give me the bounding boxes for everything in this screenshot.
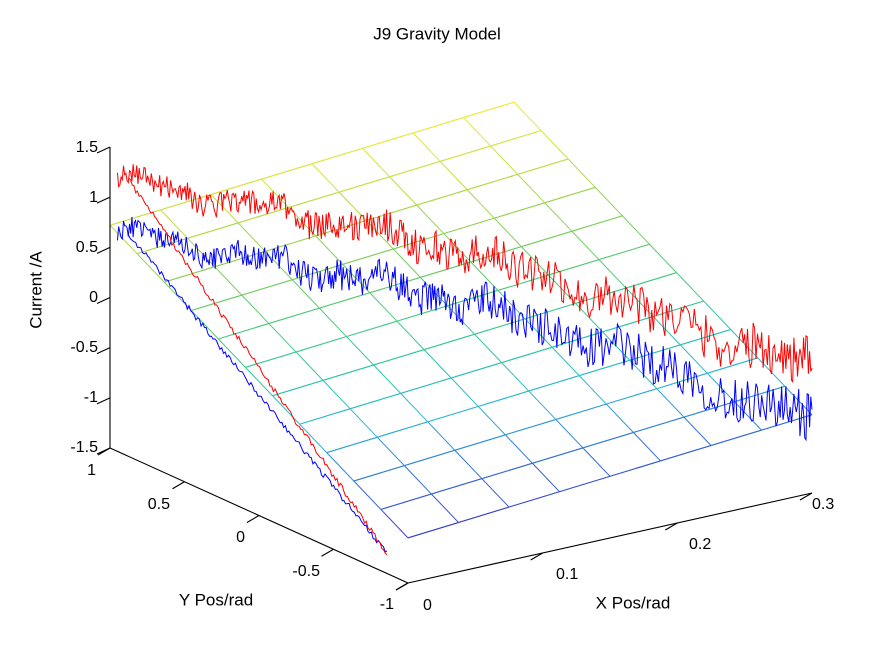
mesh-gridline-constant-y bbox=[529, 376, 580, 391]
mesh-gridline-constant-x bbox=[296, 352, 323, 380]
mesh-gridline-constant-x bbox=[191, 311, 218, 339]
mesh-gridline-constant-x bbox=[541, 131, 568, 159]
mesh-gridline-constant-x bbox=[413, 133, 440, 161]
mesh-gridline-constant-y bbox=[606, 389, 657, 404]
mesh-gridline-constant-y bbox=[525, 303, 576, 318]
mesh-gridline-constant-y bbox=[191, 295, 242, 310]
mesh-gridline-constant-y bbox=[482, 463, 532, 478]
mesh-gridline-constant-x bbox=[316, 236, 343, 264]
mesh-gridline-constant-y bbox=[603, 316, 654, 331]
mesh-gridline-constant-x bbox=[401, 393, 428, 421]
x-tick-label: 0.2 bbox=[689, 536, 711, 553]
mesh-gridline-constant-x bbox=[657, 389, 684, 417]
y-tick-label: -1 bbox=[380, 596, 394, 613]
trace-measured-current-positive-sweep bbox=[117, 164, 812, 555]
mesh-gridline-constant-y bbox=[401, 378, 452, 393]
mesh-gridline-constant-y bbox=[164, 267, 215, 282]
mesh-gridline-constant-y bbox=[509, 492, 560, 507]
mesh-gridline-constant-y bbox=[346, 321, 397, 336]
x-axis-line bbox=[408, 493, 812, 583]
mesh-gridline-constant-y bbox=[413, 118, 464, 133]
mesh-gridline-constant-x bbox=[354, 481, 381, 509]
mesh-gridline-constant-x bbox=[707, 373, 734, 401]
mesh-gridline-constant-y bbox=[319, 293, 370, 308]
mesh-gridline-constant-x bbox=[161, 210, 188, 238]
mesh-gridline-constant-y bbox=[494, 203, 545, 218]
mesh-gridline-constant-x bbox=[494, 218, 521, 246]
mesh-gridline-constant-x bbox=[374, 365, 401, 393]
mesh-gridline-constant-x bbox=[734, 402, 761, 430]
mesh-gridline-constant-y bbox=[312, 148, 363, 163]
mesh-gridline-constant-y bbox=[390, 161, 441, 176]
x-tick-label: 0.3 bbox=[812, 496, 834, 513]
mesh-gridline-constant-x bbox=[451, 378, 478, 406]
z-tick-mark bbox=[97, 247, 110, 253]
mesh-gridline-constant-y bbox=[374, 350, 425, 365]
mesh-gridline-constant-x bbox=[440, 161, 467, 189]
mesh-gridline-constant-x bbox=[164, 282, 191, 310]
x-tick-label: 0.1 bbox=[556, 566, 578, 583]
mesh-gridline-constant-y bbox=[420, 262, 471, 277]
z-tick-mark bbox=[97, 147, 110, 153]
y-tick-mark bbox=[98, 448, 110, 455]
mesh-gridline-constant-y bbox=[464, 102, 515, 117]
mesh-gridline-constant-x bbox=[464, 118, 491, 146]
mesh-gridline-constant-x bbox=[649, 244, 676, 272]
mesh-gridline-constant-y bbox=[408, 522, 459, 537]
mesh-gridline-constant-x bbox=[568, 159, 595, 187]
mesh-gridline-constant-y bbox=[545, 187, 596, 202]
mesh-gridline-constant-y bbox=[599, 244, 650, 259]
mesh-gridline-constant-x bbox=[137, 254, 164, 282]
mesh-gridline-constant-x bbox=[532, 463, 559, 491]
mesh-gridline-constant-y bbox=[265, 236, 316, 251]
z-tick-label: -1 bbox=[84, 389, 98, 406]
mesh-gridline-constant-y bbox=[431, 479, 482, 494]
mesh-gridline-constant-x bbox=[502, 363, 529, 391]
mesh-gridline-constant-x bbox=[319, 308, 346, 336]
mesh-gridline-constant-x bbox=[677, 273, 704, 301]
z-tick-mark bbox=[97, 398, 110, 404]
z-axis-label: Current /A bbox=[26, 251, 45, 329]
mesh-gridline-constant-x bbox=[404, 466, 431, 494]
matlab-figure-window: J9 Gravity Model 1.5 1 0.5 0 -0.5 -1 -1.… bbox=[0, 0, 875, 656]
mesh-gridline-constant-y bbox=[350, 393, 401, 408]
mesh-gridline-constant-y bbox=[478, 391, 528, 406]
z-tick-label: -0.5 bbox=[70, 339, 98, 356]
mesh-gridline-constant-y bbox=[491, 131, 542, 146]
mesh-gridline-constant-x bbox=[242, 295, 269, 323]
mesh-gridline-constant-y bbox=[363, 133, 414, 148]
mesh-gridline-constant-y bbox=[218, 324, 268, 339]
mesh-gridline-constant-y bbox=[262, 164, 313, 179]
mesh-gridline-constant-y bbox=[459, 507, 510, 522]
y-tick-label: 0 bbox=[236, 529, 245, 546]
mesh-gridline-constant-y bbox=[327, 437, 378, 452]
mesh-gridline-constant-x bbox=[455, 450, 482, 478]
y-tick-label: 1 bbox=[87, 462, 96, 479]
mesh-gridline-constant-x bbox=[514, 102, 541, 130]
mesh-gridline-constant-x bbox=[269, 324, 296, 352]
mesh-gridline-constant-y bbox=[404, 450, 455, 465]
mesh-gridline-constant-y bbox=[583, 432, 634, 447]
mesh-gridline-constant-x bbox=[572, 231, 599, 259]
mesh-gridline-constant-y bbox=[417, 190, 468, 205]
mesh-gridline-constant-y bbox=[242, 280, 292, 295]
mesh-gridline-constant-x bbox=[300, 424, 327, 452]
mesh-gridline-constant-y bbox=[711, 430, 762, 445]
y-tick-mark bbox=[247, 516, 259, 523]
mesh-gridline-constant-y bbox=[661, 446, 712, 461]
mesh-gridline-constant-y bbox=[444, 218, 495, 233]
mesh-gridline-constant-x bbox=[505, 435, 532, 463]
mesh-gridline-constant-x bbox=[312, 164, 339, 192]
z-tick-label: 1.5 bbox=[76, 139, 98, 156]
mesh-gridline-constant-y bbox=[532, 448, 583, 463]
mesh-gridline-constant-y bbox=[451, 363, 502, 378]
mesh-gridline-constant-x bbox=[431, 494, 458, 522]
mesh-gridline-constant-x bbox=[273, 396, 300, 424]
plot-canvas: J9 Gravity Model 1.5 1 0.5 0 -0.5 -1 -1.… bbox=[0, 0, 875, 656]
mesh-gridline-constant-x bbox=[583, 448, 610, 476]
z-tick-labels: 1.5 1 0.5 0 -0.5 -1 -1.5 bbox=[70, 139, 98, 456]
y-tick-label: -0.5 bbox=[292, 563, 320, 580]
mesh-gridline-constant-x bbox=[377, 437, 404, 465]
mesh-gridline-constant-y bbox=[245, 352, 296, 367]
mesh-gridline-constant-y bbox=[521, 231, 572, 246]
mesh-gridline-constant-x bbox=[292, 280, 319, 308]
y-tick-label: 0.5 bbox=[148, 496, 170, 513]
mesh-gridline-constant-y bbox=[556, 404, 607, 419]
mesh-gridline-constant-x bbox=[545, 203, 572, 231]
mesh-gridline-constant-y bbox=[502, 347, 553, 362]
mesh-gridline-constant-x bbox=[428, 422, 455, 450]
mesh-gridline-constant-x bbox=[482, 479, 509, 507]
z-tick-mark bbox=[97, 197, 110, 203]
mesh-gridline-constant-y bbox=[296, 337, 347, 352]
mesh-gridline-constant-y bbox=[467, 174, 518, 189]
mesh-gridline-constant-x bbox=[370, 293, 397, 321]
mesh-gridline-constant-y bbox=[455, 435, 506, 450]
mesh-gridline-constant-y bbox=[560, 476, 611, 491]
mesh-gridline-constant-x bbox=[424, 350, 451, 378]
mesh-gridline-constant-x bbox=[552, 347, 579, 375]
mesh-gridline-constant-y bbox=[518, 159, 569, 174]
z-tick-label: 1 bbox=[89, 189, 98, 206]
page-title: J9 Gravity Model bbox=[373, 24, 501, 43]
mesh-gridline-constant-x bbox=[467, 190, 494, 218]
mesh-gridline-constant-x bbox=[475, 334, 502, 362]
mesh-gridline-constant-x bbox=[327, 453, 354, 481]
z-tick-mark bbox=[97, 298, 110, 304]
mesh-gridline-constant-x bbox=[215, 267, 242, 295]
z-tick-label: -1.5 bbox=[70, 439, 98, 456]
mesh-gridline-constant-x bbox=[595, 187, 622, 215]
mesh-gridline-constant-x bbox=[238, 223, 265, 251]
mesh-gridline-constant-x bbox=[381, 509, 408, 537]
mesh-gridline-constant-y bbox=[188, 223, 239, 238]
mesh-gridline-constant-x bbox=[491, 146, 518, 174]
mesh-gridline-constant-x bbox=[478, 406, 505, 434]
y-axis-label: Y Pos/rad bbox=[179, 590, 253, 609]
mesh-gridline-constant-y bbox=[633, 417, 684, 432]
mesh-gridline-constant-y bbox=[238, 208, 289, 223]
mesh-gridline-constant-y bbox=[572, 216, 623, 231]
mesh-gridline-constant-x bbox=[397, 321, 424, 349]
mesh-gridline-constant-x bbox=[633, 432, 660, 460]
mesh-gridline-constant-y bbox=[381, 494, 432, 509]
x-axis-label: X Pos/rad bbox=[596, 593, 671, 612]
mesh-gridline-constant-x bbox=[704, 301, 731, 329]
x-tick-mark bbox=[396, 583, 408, 590]
mesh-gridline-constant-x bbox=[529, 391, 556, 419]
mesh-gridline-constant-y bbox=[428, 406, 479, 421]
y-tick-mark bbox=[322, 549, 334, 556]
mesh-gridline-constant-y bbox=[289, 192, 340, 207]
mesh-gridline-constant-x bbox=[518, 174, 545, 202]
mesh-gridline-constant-x bbox=[417, 205, 444, 233]
mesh-gridline-constant-y bbox=[440, 146, 491, 161]
mesh-gridline-constant-y bbox=[377, 422, 428, 437]
z-tick-label: 0 bbox=[89, 289, 98, 306]
mesh-gridline-constant-x bbox=[606, 404, 633, 432]
mesh-gridline-constant-y bbox=[505, 419, 556, 434]
x-tick-label: 0 bbox=[423, 597, 432, 614]
mesh-gridline-constant-x bbox=[350, 409, 377, 437]
mesh-gridline-constant-y bbox=[211, 179, 262, 194]
mesh-gridline-constant-x bbox=[684, 417, 711, 445]
mesh-gridline-constant-x bbox=[363, 148, 390, 176]
y-tick-mark bbox=[173, 482, 185, 489]
mesh-gridline-constant-y bbox=[300, 409, 351, 424]
mesh-gridline-constant-y bbox=[354, 466, 405, 481]
mesh-gridline-constant-x bbox=[599, 260, 626, 288]
mesh-gridline-constant-y bbox=[424, 334, 475, 349]
mesh-gridline-constant-x bbox=[622, 216, 649, 244]
mesh-gridline-constant-x bbox=[579, 376, 606, 404]
mesh-gridline-constant-x bbox=[390, 177, 417, 205]
mesh-gridline-constant-y bbox=[343, 249, 394, 264]
mesh-gridline-constant-x bbox=[323, 380, 350, 408]
mesh-gridline-constant-y bbox=[269, 308, 320, 323]
mesh-gridline-constant-y bbox=[323, 365, 374, 380]
mesh-gridline-constant-y bbox=[339, 177, 390, 192]
mesh-gridline-constant-x bbox=[346, 337, 373, 365]
mesh-gridline-constant-y bbox=[610, 461, 661, 476]
mesh-gridline-constant-y bbox=[273, 380, 324, 395]
mesh-gridline-constant-x bbox=[556, 419, 583, 447]
mesh-gridline-constant-y bbox=[579, 360, 630, 375]
z-tick-label: 0.5 bbox=[76, 239, 98, 256]
z-tick-mark bbox=[97, 348, 110, 354]
